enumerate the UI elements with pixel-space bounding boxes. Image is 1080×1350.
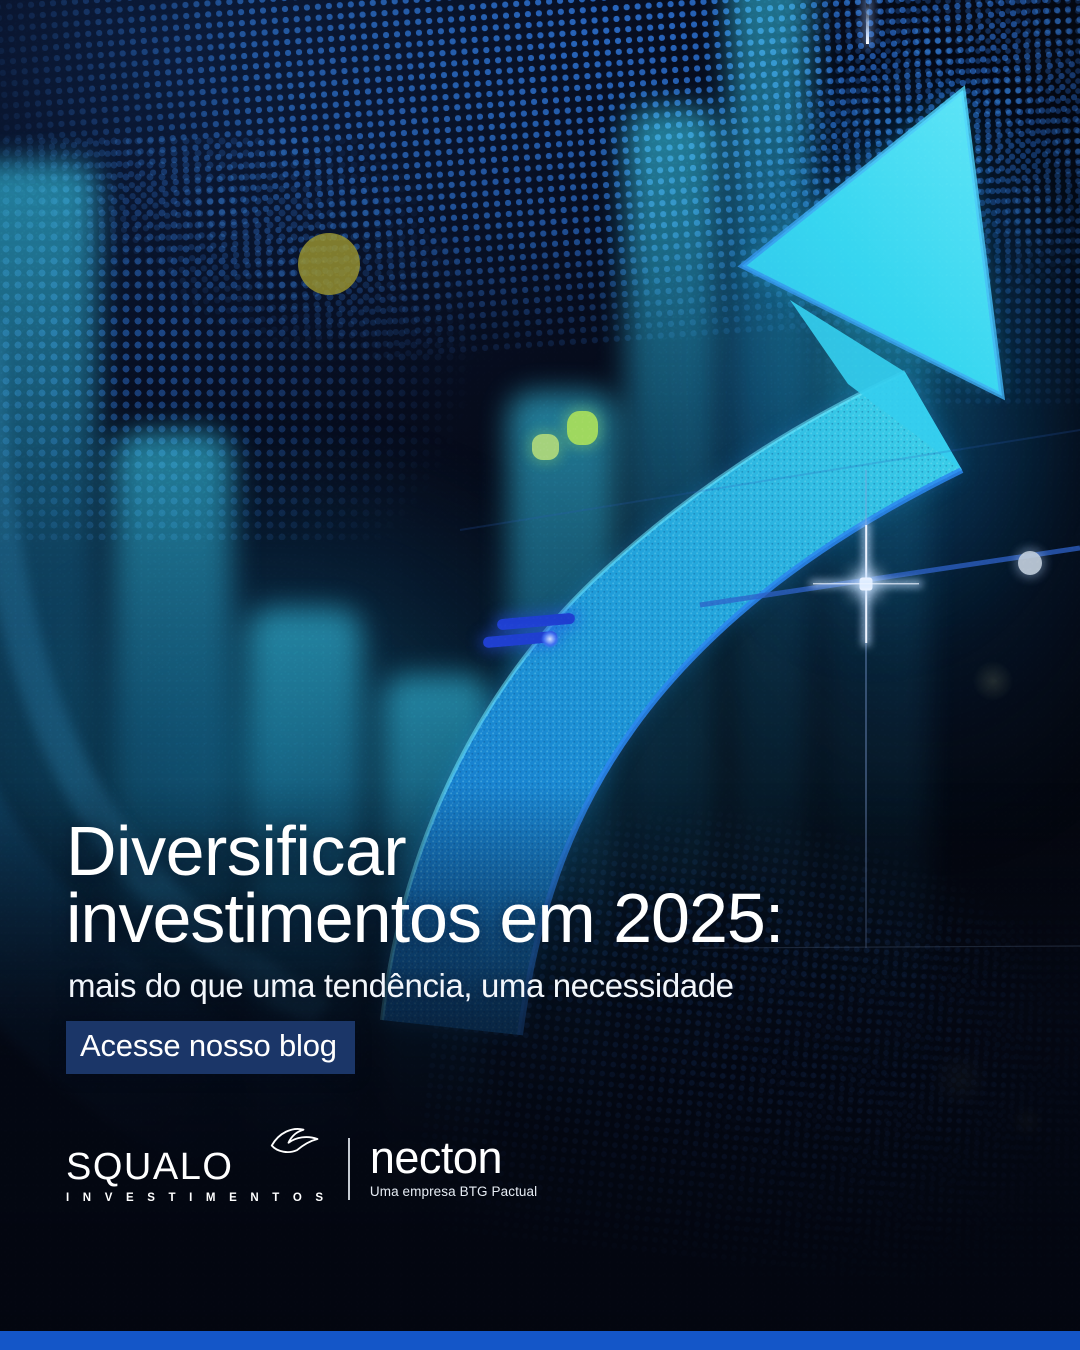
necton-wordmark: necton: [370, 1138, 537, 1179]
copy-block: Diversificar investimentos em 2025: mais…: [66, 818, 826, 1074]
network-circle-node: [1018, 551, 1042, 575]
lens-smudge: [972, 660, 1014, 702]
light-beam-streak: [866, 0, 869, 44]
green-pill-accent: [567, 411, 598, 445]
necton-tagline: Uma empresa BTG Pactual: [370, 1184, 537, 1199]
star-core: [860, 578, 873, 591]
blog-cta-button[interactable]: Acesse nosso blog: [66, 1021, 355, 1074]
page-title: Diversificar investimentos em 2025:: [66, 818, 826, 951]
logo-divider: [348, 1138, 350, 1200]
necton-logo[interactable]: necton Uma empresa BTG Pactual: [370, 1138, 537, 1201]
squalo-tagline: I N V E S T I M E N T O S: [66, 1193, 328, 1205]
logo-lockup: SQUALO I N V E S T I M E N T O S necton …: [66, 1134, 537, 1205]
olive-circle-accent: [298, 233, 360, 295]
bottom-accent-bar: [0, 1331, 1080, 1350]
star-flare-node: [853, 571, 879, 597]
headline-line-2: investimentos em 2025:: [66, 885, 826, 952]
green-pill-accent: [532, 434, 559, 460]
squalo-logo[interactable]: SQUALO I N V E S T I M E N T O S: [66, 1134, 328, 1205]
blue-tick-bar: [497, 613, 576, 631]
blue-tick-accent: [483, 614, 575, 656]
blue-spark: [541, 630, 559, 648]
subheadline: mais do que uma tendência, uma necessida…: [68, 967, 826, 1005]
social-post-canvas: Diversificar investimentos em 2025: mais…: [0, 0, 1080, 1350]
shark-fin-wave-icon: [268, 1125, 324, 1155]
